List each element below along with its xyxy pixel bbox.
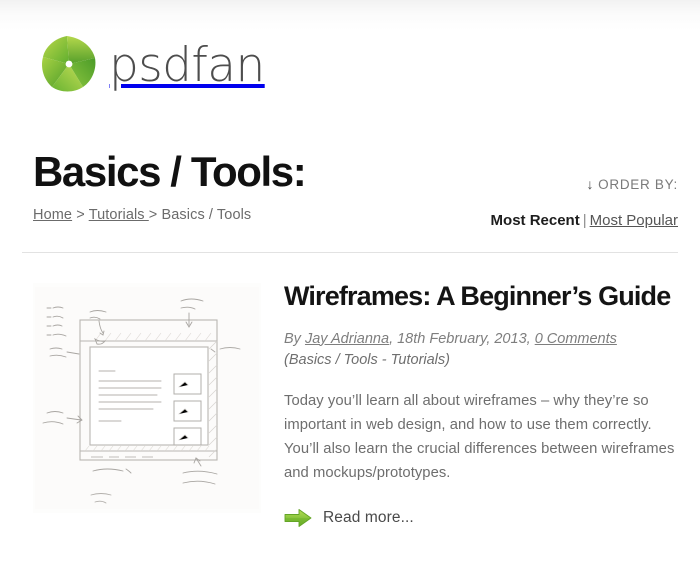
breadcrumb-separator: > — [149, 207, 158, 223]
post-meta-by: By — [284, 331, 305, 347]
site-logo-wordmark: psdfan — [109, 42, 265, 89]
order-by-label: ↓ORDER BY: — [358, 176, 678, 192]
post-categories: (Basics / Tools - Tutorials) — [284, 350, 678, 372]
order-by-most-recent[interactable]: Most Recent — [491, 212, 580, 229]
breadcrumb-current: Basics / Tools — [162, 207, 252, 223]
post-list-item: Wireframes: A Beginner’s Guide By Jay Ad… — [22, 277, 678, 528]
post-meta-date: , 18th February, 2013, — [389, 331, 535, 347]
post-title-link[interactable]: Wireframes: A Beginner’s Guide — [284, 281, 670, 311]
order-by-divider: | — [583, 212, 587, 229]
post-content: Wireframes: A Beginner’s Guide By Jay Ad… — [284, 277, 678, 528]
post-meta: By Jay Adrianna, 18th February, 2013, 0 … — [284, 329, 678, 373]
order-by-label-text: ORDER BY: — [598, 177, 678, 192]
breadcrumb-link-home[interactable]: Home — [33, 207, 72, 223]
order-by-most-popular[interactable]: Most Popular — [590, 212, 678, 229]
header-divider — [22, 252, 678, 253]
read-more-link[interactable]: Read more... — [284, 508, 678, 528]
order-by-options: Most Recent|Most Popular — [358, 212, 678, 229]
site-logo[interactable]: psdfan — [33, 25, 265, 101]
pinwheel-flower-icon — [33, 27, 105, 99]
arrow-down-icon: ↓ — [586, 176, 594, 192]
breadcrumb-separator: > — [76, 207, 85, 223]
post-thumbnail[interactable] — [33, 283, 261, 513]
post-excerpt: Today you’ll learn all about wireframes … — [284, 390, 678, 486]
page-root: psdfan Basics / Tools: Home > Tutorials … — [0, 0, 700, 581]
post-author-link[interactable]: Jay Adrianna — [305, 331, 389, 347]
order-by-controls: ↓ORDER BY: Most Recent|Most Popular — [358, 176, 678, 229]
post-comments-link[interactable]: 0 Comments — [535, 331, 617, 347]
read-more-label: Read more... — [323, 509, 414, 527]
breadcrumb-link-tutorials[interactable]: Tutorials — [89, 207, 149, 223]
post-title[interactable]: Wireframes: A Beginner’s Guide — [284, 281, 678, 313]
arrow-right-green-icon — [284, 508, 312, 528]
